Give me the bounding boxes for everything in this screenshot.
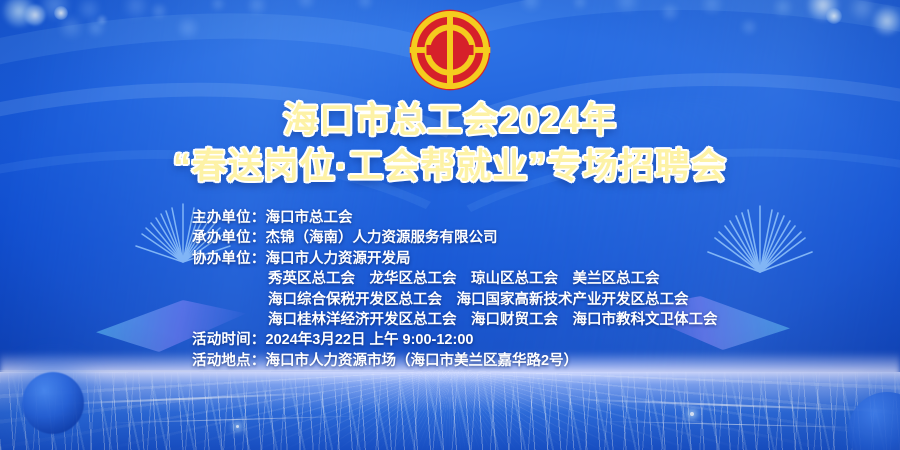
title-line-2: “春送岗位·工会帮就业”专场招聘会 xyxy=(0,146,900,187)
co-organizer-value: 杰锦（海南）人力资源服务有限公司 xyxy=(266,230,498,246)
supporter-extra-line: 海口桂林洋经济开发区总工会 海口财贸工会 海口市教科文卫体工会 xyxy=(192,310,718,330)
poster-title: 海口市总工会2024年 “春送岗位·工会帮就业”专场招聘会 xyxy=(0,100,900,188)
title-line-1: 海口市总工会2024年 xyxy=(0,100,900,141)
organizer-value: 海口市总工会 xyxy=(266,210,353,226)
info-row-event-place: 活动地点：海口市人力资源市场（海口市美兰区嘉华路2号） xyxy=(192,351,718,371)
supporter-extra-line: 秀英区总工会 龙华区总工会 琼山区总工会 美兰区总工会 xyxy=(192,269,718,289)
co-organizer-label: 承办单位： xyxy=(192,230,266,246)
supporter-label: 协办单位： xyxy=(192,251,266,267)
acftu-union-emblem-icon xyxy=(408,8,492,92)
supporter-value: 海口市人力资源开发局 xyxy=(266,251,411,267)
recruitment-poster: 海口市总工会2024年 “春送岗位·工会帮就业”专场招聘会 主办单位：海口市总工… xyxy=(0,0,900,450)
info-row-event-time: 活动时间：2024年3月22日 上午 9:00-12:00 xyxy=(192,330,718,350)
event-time-value: 2024年3月22日 上午 9:00-12:00 xyxy=(266,332,474,348)
event-time-label: 活动时间： xyxy=(192,332,266,348)
organizer-label: 主办单位： xyxy=(192,210,266,226)
info-row-supporter: 协办单位：海口市人力资源开发局 xyxy=(192,249,718,269)
event-place-value: 海口市人力资源市场（海口市美兰区嘉华路2号） xyxy=(266,353,579,369)
emblem-container xyxy=(408,8,492,92)
event-info-block: 主办单位：海口市总工会 承办单位：杰锦（海南）人力资源服务有限公司 协办单位：海… xyxy=(192,208,718,371)
event-place-label: 活动地点： xyxy=(192,353,266,369)
info-row-co-organizer: 承办单位：杰锦（海南）人力资源服务有限公司 xyxy=(192,228,718,248)
supporter-extra-line: 海口综合保税开发区总工会 海口国家高新技术产业开发区总工会 xyxy=(192,290,718,310)
info-row-organizer: 主办单位：海口市总工会 xyxy=(192,208,718,228)
